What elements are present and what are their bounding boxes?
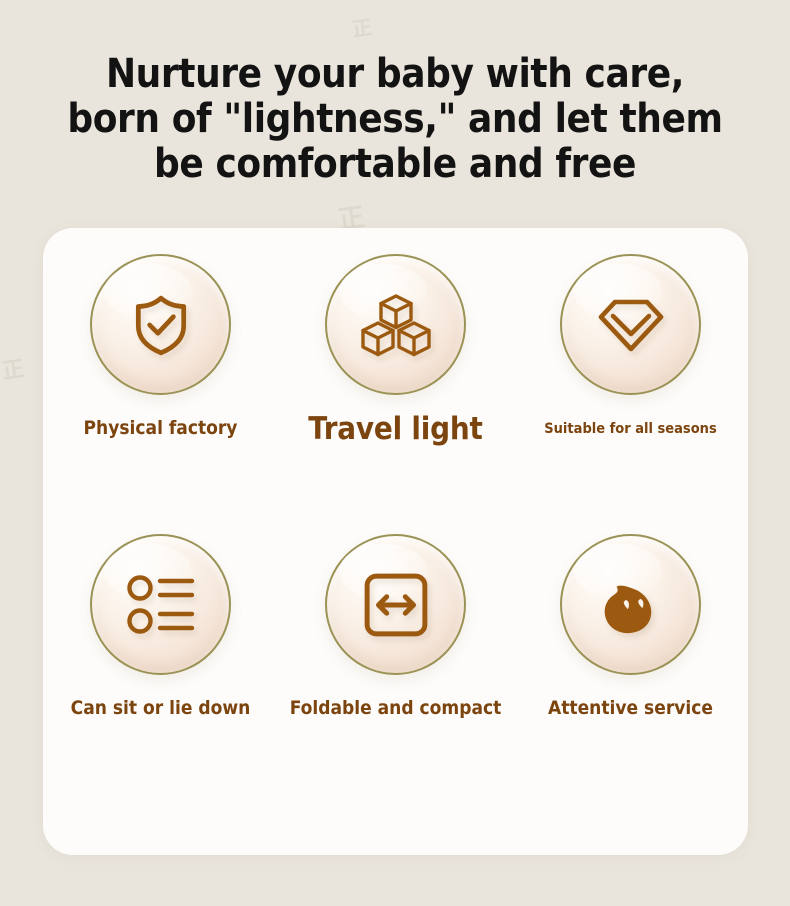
feature-label: Physical factory [84,417,238,439]
bullet-list-icon [126,574,196,636]
feature-icon-badge [90,254,231,395]
horizontal-resize-icon [363,572,429,638]
feature-item-sit-or-lie-down[interactable]: Can sit or lie down [43,534,278,814]
page-title-line-2: born of "lightness," and let them [0,97,790,142]
mascot-face-icon [598,572,664,638]
page-title: Nurture your baby with care, born of "li… [0,0,790,187]
feature-item-attentive-service[interactable]: Attentive service [513,534,748,814]
feature-item-travel-light[interactable]: Travel light [278,254,513,534]
diamond-gem-icon [596,295,666,355]
feature-item-suitable-all-seasons[interactable]: Suitable for all seasons [513,254,748,534]
watermark-text: 正 [0,350,28,385]
page-title-line-3: be comfortable and free [0,142,790,187]
feature-label: Travel light [308,411,482,447]
feature-icon-badge [560,254,701,395]
feature-label: Can sit or lie down [71,697,251,719]
feature-item-foldable-compact[interactable]: Foldable and compact [278,534,513,814]
feature-icon-badge [560,534,701,675]
page-title-line-1: Nurture your baby with care, [0,52,790,97]
feature-label: Foldable and compact [290,697,502,719]
feature-grid: Physical factory [43,254,748,814]
feature-card-panel: Physical factory [43,228,748,855]
feature-icon-badge [325,254,466,395]
feature-item-physical-factory[interactable]: Physical factory [43,254,278,534]
feature-icon-badge [90,534,231,675]
shield-check-icon [128,292,194,358]
feature-label: Suitable for all seasons [544,421,716,437]
stacked-cubes-icon [360,292,432,358]
feature-icon-badge [325,534,466,675]
feature-label: Attentive service [548,697,713,719]
